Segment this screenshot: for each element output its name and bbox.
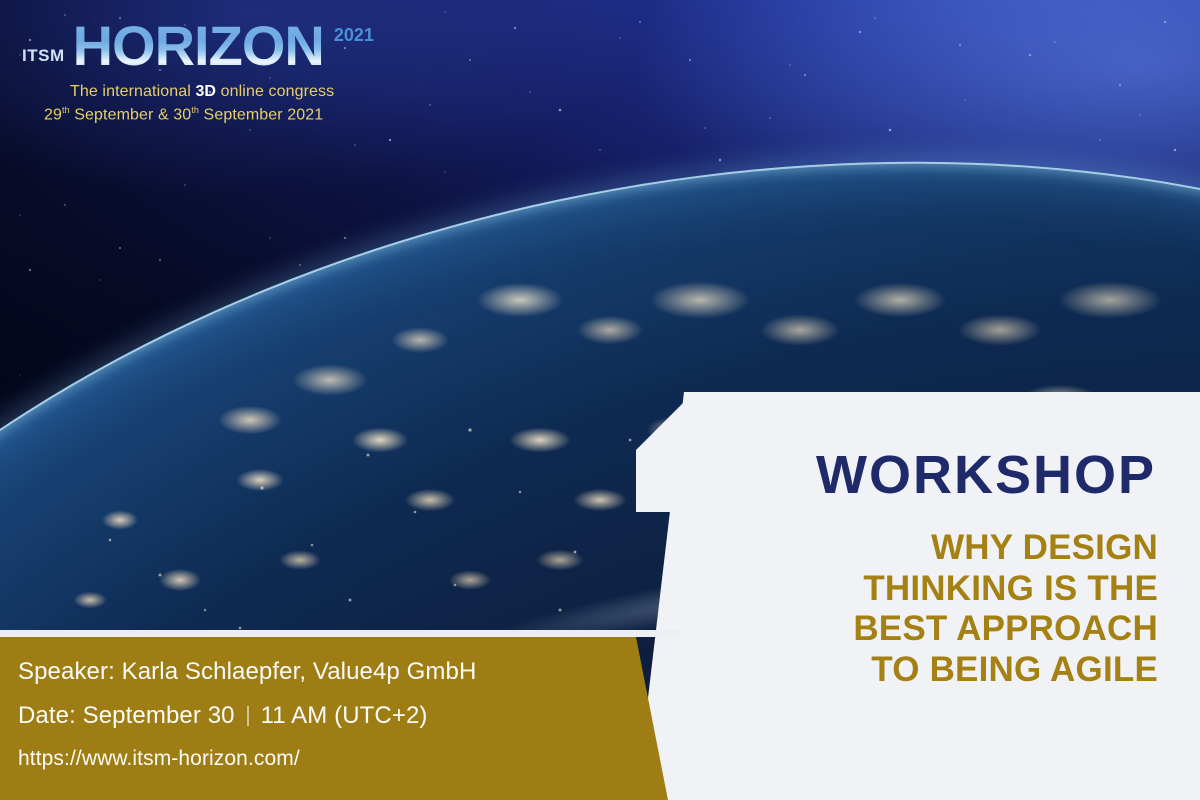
logo-brand-horizon: HORIZON xyxy=(73,18,324,74)
event-url[interactable]: https://www.itsm-horizon.com/ xyxy=(18,748,618,769)
logo-dateline: 29th September & 30th September 2021 xyxy=(44,105,442,124)
dateline-day-1: 29 xyxy=(44,106,62,123)
workshop-title-line-4: TO BEING AGILE xyxy=(676,650,1158,691)
workshop-title-line-1: WHY DESIGN xyxy=(676,528,1158,569)
date-label: Date: September 30 xyxy=(18,702,235,729)
speaker-line: Speaker: Karla Schlaepfer, Value4p GmbH xyxy=(18,660,618,684)
dateline-middle: September & 30 xyxy=(70,106,192,123)
workshop-kicker: WORKSHOP xyxy=(676,448,1156,502)
event-poster: ITSM HORIZON 2021 The international 3D o… xyxy=(0,0,1200,800)
workshop-card-content: WORKSHOP WHY DESIGN THINKING IS THE BEST… xyxy=(636,392,1200,800)
details-text-block: Speaker: Karla Schlaepfer, Value4p GmbH … xyxy=(18,660,618,769)
workshop-title-line-2: THINKING IS THE xyxy=(676,569,1158,610)
logo-prefix-itsm: ITSM xyxy=(22,46,65,66)
date-time-separator xyxy=(247,706,249,726)
tagline-highlight-3d: 3D xyxy=(195,83,216,100)
tagline-text-after: online congress xyxy=(216,83,334,100)
dateline-ordinal-1: th xyxy=(62,105,70,115)
dateline-ordinal-2: th xyxy=(191,105,199,115)
event-logo: ITSM HORIZON 2021 The international 3D o… xyxy=(22,18,442,133)
time-label: 11 AM (UTC+2) xyxy=(261,702,428,729)
workshop-title: WHY DESIGN THINKING IS THE BEST APPROACH… xyxy=(676,528,1158,690)
gold-bar-top-gap xyxy=(0,630,680,637)
tagline-text-before: The international xyxy=(70,83,195,100)
logo-tagline: The international 3D online congress xyxy=(70,83,442,101)
workshop-title-line-3: BEST APPROACH xyxy=(676,609,1158,650)
logo-wordmark-row: ITSM HORIZON 2021 xyxy=(22,18,442,76)
dateline-suffix: September 2021 xyxy=(199,106,323,123)
date-time-line: Date: September 3011 AM (UTC+2) xyxy=(18,704,618,728)
logo-year: 2021 xyxy=(334,25,374,46)
